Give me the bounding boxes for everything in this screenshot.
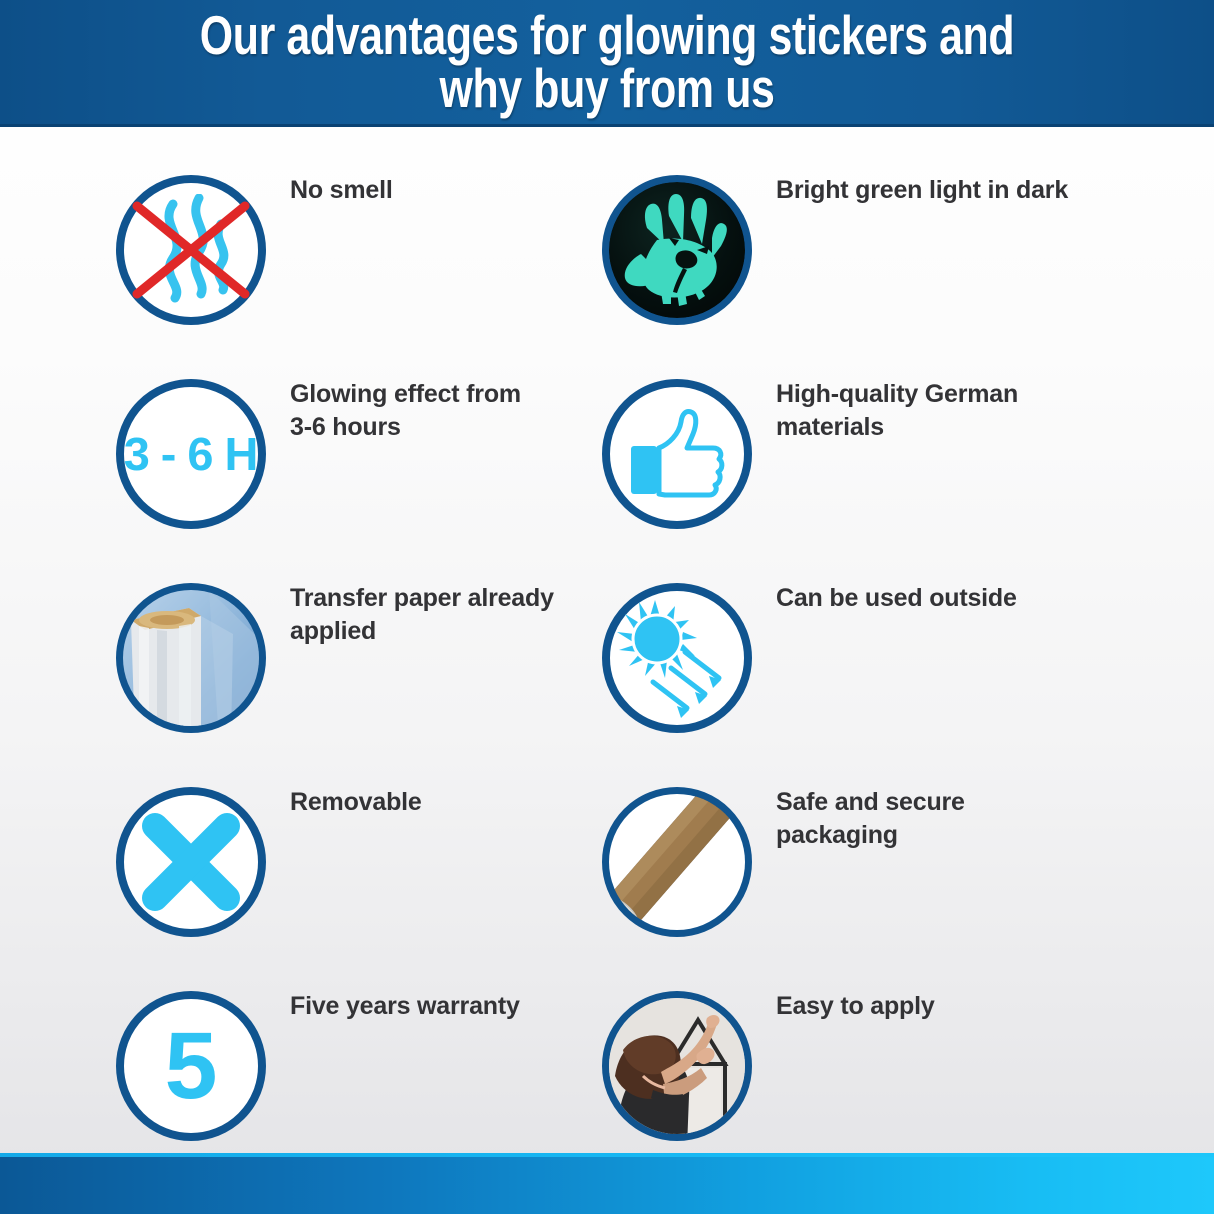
footer-accent-strip (0, 1153, 1214, 1157)
feature-label: Easy to apply (776, 990, 935, 1023)
removable-badge (116, 787, 266, 937)
handprint-icon (617, 188, 737, 312)
woman-applying-decal-icon (609, 998, 745, 1134)
feature-label: Bright green light in dark (776, 174, 1068, 207)
mailing-tube-icon (609, 794, 745, 930)
page-title: Our advantages for glowing stickers and … (134, 9, 1081, 115)
feature-label: Can be used outside (776, 582, 1017, 615)
glowing-handprint-badge (602, 175, 752, 325)
feature-item-duration: 3 - 6 H Glowing effect from 3-6 hours (116, 362, 602, 566)
feature-label: Transfer paper already applied (290, 582, 554, 649)
tube-photo-background (609, 794, 745, 930)
footer-bar (0, 1155, 1214, 1214)
cross-removable-icon (139, 810, 243, 914)
apply-photo-clip (609, 998, 745, 1134)
feature-label: Removable (290, 786, 422, 819)
feature-label: High-quality German materials (776, 378, 1076, 445)
feature-label: Five years warranty (290, 990, 520, 1023)
easy-apply-badge (602, 991, 752, 1141)
header-banner: Our advantages for glowing stickers and … (0, 0, 1214, 127)
outdoor-badge (602, 583, 752, 733)
feature-item-packaging: Safe and secure packaging (602, 770, 1088, 974)
red-cross-icon (127, 194, 255, 306)
thumbs-up-badge (602, 379, 752, 529)
feature-item-removable: Removable (116, 770, 602, 974)
feature-item-german-materials: High-quality German materials (602, 362, 1088, 566)
feature-label: Safe and secure packaging (776, 786, 1076, 853)
thumbs-up-icon (625, 406, 729, 502)
no-smell-badge (116, 175, 266, 325)
infographic-page: Our advantages for glowing stickers and … (0, 0, 1214, 1214)
badge-value-text: 5 (165, 1019, 218, 1114)
duration-badge: 3 - 6 H (116, 379, 266, 529)
feature-item-warranty: 5 Five years warranty (116, 974, 602, 1178)
warranty-badge: 5 (116, 991, 266, 1141)
roll-photo-background (123, 590, 259, 726)
dark-disc (609, 182, 745, 318)
feature-item-glow-dark: Bright green light in dark (602, 158, 1088, 362)
feature-item-no-smell: No smell (116, 158, 602, 362)
transfer-paper-badge (116, 583, 266, 733)
feature-label: No smell (290, 174, 393, 207)
apply-photo-background (609, 998, 745, 1134)
glow-disc-background (609, 182, 745, 318)
feature-grid: No smell (0, 158, 1214, 1178)
feature-item-transfer-paper: Transfer paper already applied (116, 566, 602, 770)
roll-photo-clip (123, 590, 259, 726)
tube-photo-clip (609, 794, 745, 930)
packaging-badge (602, 787, 752, 937)
feature-label: Glowing effect from 3-6 hours (290, 378, 521, 445)
sun-outdoor-icon (613, 594, 741, 722)
film-roll-icon (123, 590, 259, 726)
feature-item-outdoor: Can be used outside (602, 566, 1088, 770)
badge-value-text: 3 - 6 H (124, 431, 258, 477)
feature-item-easy-apply: Easy to apply (602, 974, 1088, 1178)
